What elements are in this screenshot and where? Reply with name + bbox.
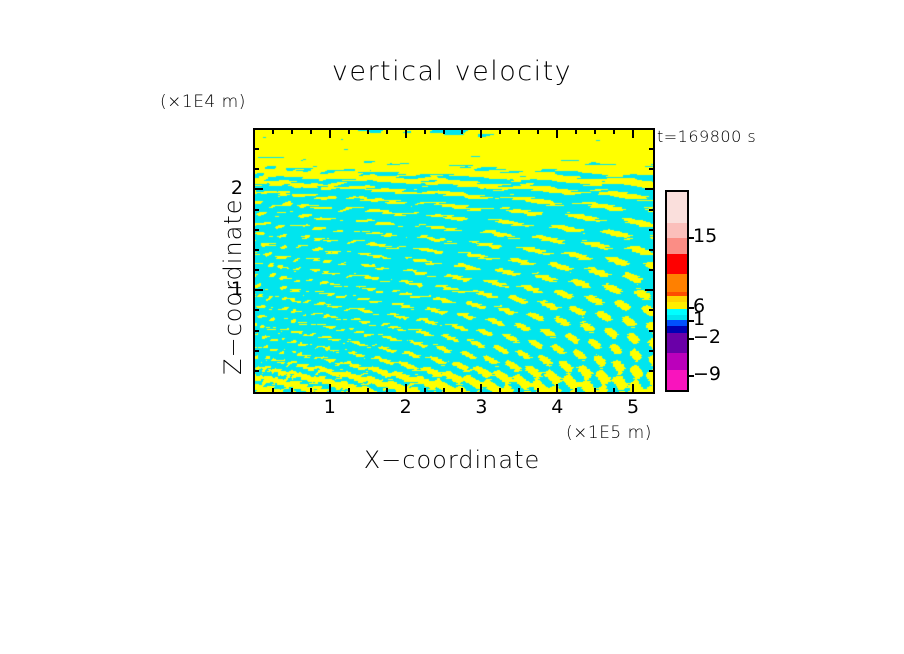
x-axis-tick bbox=[480, 130, 482, 138]
y-axis-minor-tick bbox=[255, 269, 259, 271]
x-axis-minor-tick bbox=[348, 388, 350, 392]
x-axis-minor-tick bbox=[348, 130, 350, 134]
y-axis-tick-label: 2 bbox=[211, 177, 243, 199]
x-axis-tick-label: 3 bbox=[461, 396, 501, 418]
y-axis-minor-tick bbox=[649, 148, 653, 150]
y-axis-minor-tick bbox=[255, 148, 259, 150]
y-axis-minor-tick bbox=[649, 229, 653, 231]
x-axis-minor-tick bbox=[594, 130, 596, 134]
colorbar-tick-label: −2 bbox=[693, 326, 721, 348]
x-axis-minor-tick bbox=[386, 130, 388, 134]
y-axis-minor-tick bbox=[649, 309, 653, 311]
x-axis-tick-label: 4 bbox=[537, 396, 577, 418]
colorbar-band bbox=[667, 302, 687, 309]
y-axis-minor-tick bbox=[649, 330, 653, 332]
x-axis-minor-tick bbox=[518, 388, 520, 392]
x-axis-unit-label: (×1E5 m) bbox=[566, 423, 652, 443]
y-axis-minor-tick bbox=[649, 269, 653, 271]
y-axis-minor-tick bbox=[255, 330, 259, 332]
y-axis-tick bbox=[255, 289, 263, 291]
colorbar-band bbox=[667, 223, 687, 238]
x-axis-tick-label: 1 bbox=[310, 396, 350, 418]
x-axis-minor-tick bbox=[575, 130, 577, 134]
x-axis-minor-tick bbox=[613, 388, 615, 392]
x-axis-tick bbox=[329, 130, 331, 138]
x-axis-minor-tick bbox=[272, 388, 274, 392]
plot-area bbox=[253, 128, 655, 394]
x-axis-tick-label: 5 bbox=[613, 396, 653, 418]
x-axis-minor-tick bbox=[367, 388, 369, 392]
x-axis-label: X−coordinate bbox=[0, 446, 904, 474]
x-axis-minor-tick bbox=[461, 130, 463, 134]
y-axis-minor-tick bbox=[255, 309, 259, 311]
colorbar-band bbox=[667, 333, 687, 353]
y-axis-minor-tick bbox=[255, 370, 259, 372]
y-axis-tick bbox=[645, 188, 653, 190]
page-title: vertical velocity bbox=[0, 56, 904, 87]
y-axis-unit-label: (×1E4 m) bbox=[160, 92, 246, 112]
time-annotation: t=169800 s bbox=[657, 127, 756, 146]
x-axis-minor-tick bbox=[310, 388, 312, 392]
x-axis-minor-tick bbox=[613, 130, 615, 134]
x-axis-tick bbox=[556, 130, 558, 138]
x-axis-minor-tick bbox=[386, 388, 388, 392]
x-axis-tick bbox=[556, 384, 558, 392]
x-axis-tick bbox=[632, 130, 634, 138]
x-axis-minor-tick bbox=[424, 388, 426, 392]
x-axis-tick bbox=[329, 384, 331, 392]
x-axis-minor-tick bbox=[272, 130, 274, 134]
x-axis-tick-label: 2 bbox=[386, 396, 426, 418]
x-axis-minor-tick bbox=[443, 130, 445, 134]
y-axis-minor-tick bbox=[255, 350, 259, 352]
x-axis-tick bbox=[480, 384, 482, 392]
colorbar-band bbox=[667, 353, 687, 370]
x-axis-minor-tick bbox=[291, 388, 293, 392]
x-axis-minor-tick bbox=[443, 388, 445, 392]
colorbar-band bbox=[667, 326, 687, 333]
y-axis-minor-tick bbox=[255, 168, 259, 170]
colorbar-tick-label: 15 bbox=[693, 225, 717, 247]
y-axis-minor-tick bbox=[255, 249, 259, 251]
x-axis-minor-tick bbox=[518, 130, 520, 134]
x-axis-minor-tick bbox=[575, 388, 577, 392]
velocity-field-heatmap bbox=[255, 130, 653, 392]
x-axis-minor-tick bbox=[291, 130, 293, 134]
colorbar-band bbox=[667, 254, 687, 274]
colorbar-band bbox=[667, 370, 687, 390]
colorbar-band bbox=[667, 238, 687, 253]
x-axis-minor-tick bbox=[537, 388, 539, 392]
x-axis-minor-tick bbox=[594, 388, 596, 392]
y-axis-minor-tick bbox=[255, 229, 259, 231]
y-axis-tick bbox=[255, 188, 263, 190]
y-axis-minor-tick bbox=[649, 370, 653, 372]
y-axis-minor-tick bbox=[649, 249, 653, 251]
y-axis-tick bbox=[645, 289, 653, 291]
colorbar-band bbox=[667, 192, 687, 223]
figure-canvas: vertical velocity (×1E4 m) t=169800 s Z−… bbox=[0, 0, 904, 654]
x-axis-minor-tick bbox=[424, 130, 426, 134]
x-axis-tick bbox=[632, 384, 634, 392]
y-axis-minor-tick bbox=[649, 209, 653, 211]
y-axis-minor-tick bbox=[255, 209, 259, 211]
colorbar-band bbox=[667, 274, 687, 292]
x-axis-minor-tick bbox=[499, 130, 501, 134]
x-axis-minor-tick bbox=[367, 130, 369, 134]
x-axis-minor-tick bbox=[537, 130, 539, 134]
x-axis-minor-tick bbox=[461, 388, 463, 392]
y-axis-tick-label: 1 bbox=[211, 278, 243, 300]
x-axis-tick bbox=[405, 130, 407, 138]
colorbar-tick-label: −9 bbox=[693, 363, 721, 385]
x-axis-tick bbox=[405, 384, 407, 392]
colorbar bbox=[665, 190, 689, 392]
x-axis-minor-tick bbox=[310, 130, 312, 134]
y-axis-minor-tick bbox=[649, 350, 653, 352]
x-axis-minor-tick bbox=[499, 388, 501, 392]
y-axis-minor-tick bbox=[649, 168, 653, 170]
